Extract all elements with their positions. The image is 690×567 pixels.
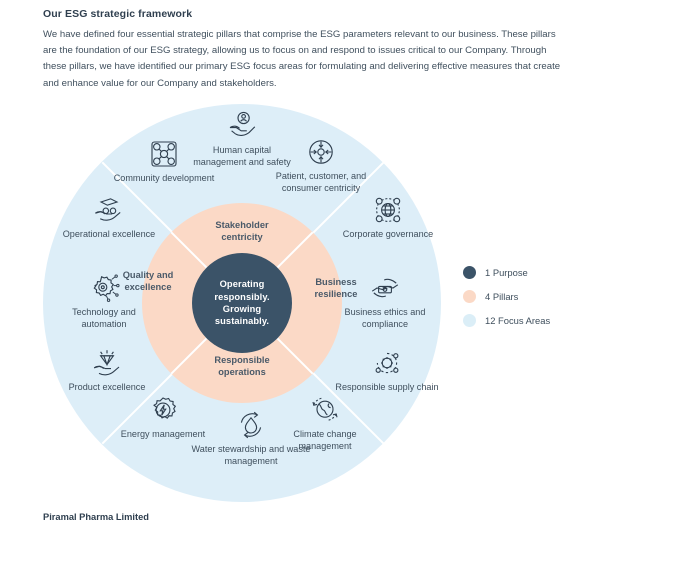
- focus-area-energy-management: Energy management: [109, 394, 217, 440]
- focus-area-label: Water stewardship and waste management: [186, 443, 316, 467]
- handshake-exchange-icon: [369, 272, 401, 304]
- focus-area-corporate-governance: Corporate governance: [334, 194, 442, 240]
- community-network-icon: [148, 138, 180, 170]
- header: Our ESG strategic framework We have defi…: [43, 8, 563, 92]
- purpose-line-2: responsibly.: [214, 292, 269, 302]
- legend-swatch-focus-areas: [463, 314, 476, 327]
- focus-area-label: Product excellence: [53, 381, 161, 393]
- legend-label: 1 Purpose: [485, 267, 528, 278]
- focus-area-product-excellence: Product excellence: [53, 347, 161, 393]
- legend-label: 12 Focus Areas: [485, 315, 550, 326]
- target-arrows-icon: [305, 136, 337, 168]
- focus-area-responsible-supply-chain: Responsible supply chain: [333, 347, 441, 393]
- focus-area-business-ethics-and-compliance: Business ethics and compliance: [331, 272, 439, 330]
- globe-network-icon: [372, 194, 404, 226]
- focus-area-technology-and-automation: Technology and automation: [50, 272, 158, 330]
- hand-holding-gears-icon: [93, 194, 125, 226]
- focus-area-label: Corporate governance: [334, 228, 442, 240]
- pillar-stakeholder-centricity: Stakeholder centricity: [199, 219, 285, 243]
- gear-orbit-icon: [371, 347, 403, 379]
- esg-framework-page: Our ESG strategic framework We have defi…: [0, 0, 690, 567]
- focus-area-label: Responsible supply chain: [333, 381, 441, 393]
- legend-swatch-purpose: [463, 266, 476, 279]
- focus-area-patient-customer-and-consumer-centricity: Patient, customer, and consumer centrici…: [267, 136, 375, 194]
- purpose-line-4: sustainably.: [215, 316, 269, 326]
- page-title: Our ESG strategic framework: [43, 8, 563, 20]
- purpose-core: Operating responsibly. Growing sustainab…: [192, 253, 292, 353]
- gear-lightning-icon: [147, 394, 179, 426]
- legend-label: 4 Pillars: [485, 291, 518, 302]
- focus-area-label: Community development: [110, 172, 218, 184]
- hand-holding-diamond-icon: [91, 347, 123, 379]
- legend-swatch-pillars: [463, 290, 476, 303]
- legend-item-focus-areas: 12 Focus Areas: [463, 314, 550, 327]
- footer-company-name: Piramal Pharma Limited: [43, 512, 149, 522]
- pillar-responsible-operations: Responsible operations: [199, 354, 285, 378]
- esg-concentric-diagram: Operating responsibly. Growing sustainab…: [43, 104, 441, 502]
- legend: 1 Purpose 4 Pillars 12 Focus Areas: [463, 266, 550, 338]
- legend-item-purpose: 1 Purpose: [463, 266, 550, 279]
- purpose-line-1: Operating: [220, 279, 265, 289]
- focus-area-operational-excellence: Operational excellence: [55, 194, 163, 240]
- gear-circuit-icon: [88, 272, 120, 304]
- purpose-statement: Operating responsibly. Growing sustainab…: [209, 278, 274, 328]
- focus-area-label: Operational excellence: [55, 228, 163, 240]
- legend-item-pillars: 4 Pillars: [463, 290, 550, 303]
- hand-holding-person-icon: [226, 110, 258, 142]
- purpose-line-3: Growing: [223, 304, 261, 314]
- focus-area-label: Patient, customer, and consumer centrici…: [267, 170, 375, 194]
- focus-area-label: Technology and automation: [50, 306, 158, 330]
- water-droplet-recycle-icon: [235, 409, 267, 441]
- focus-area-label: Business ethics and compliance: [331, 306, 439, 330]
- intro-paragraph: We have defined four essential strategic…: [43, 27, 563, 92]
- focus-area-label: Energy management: [109, 428, 217, 440]
